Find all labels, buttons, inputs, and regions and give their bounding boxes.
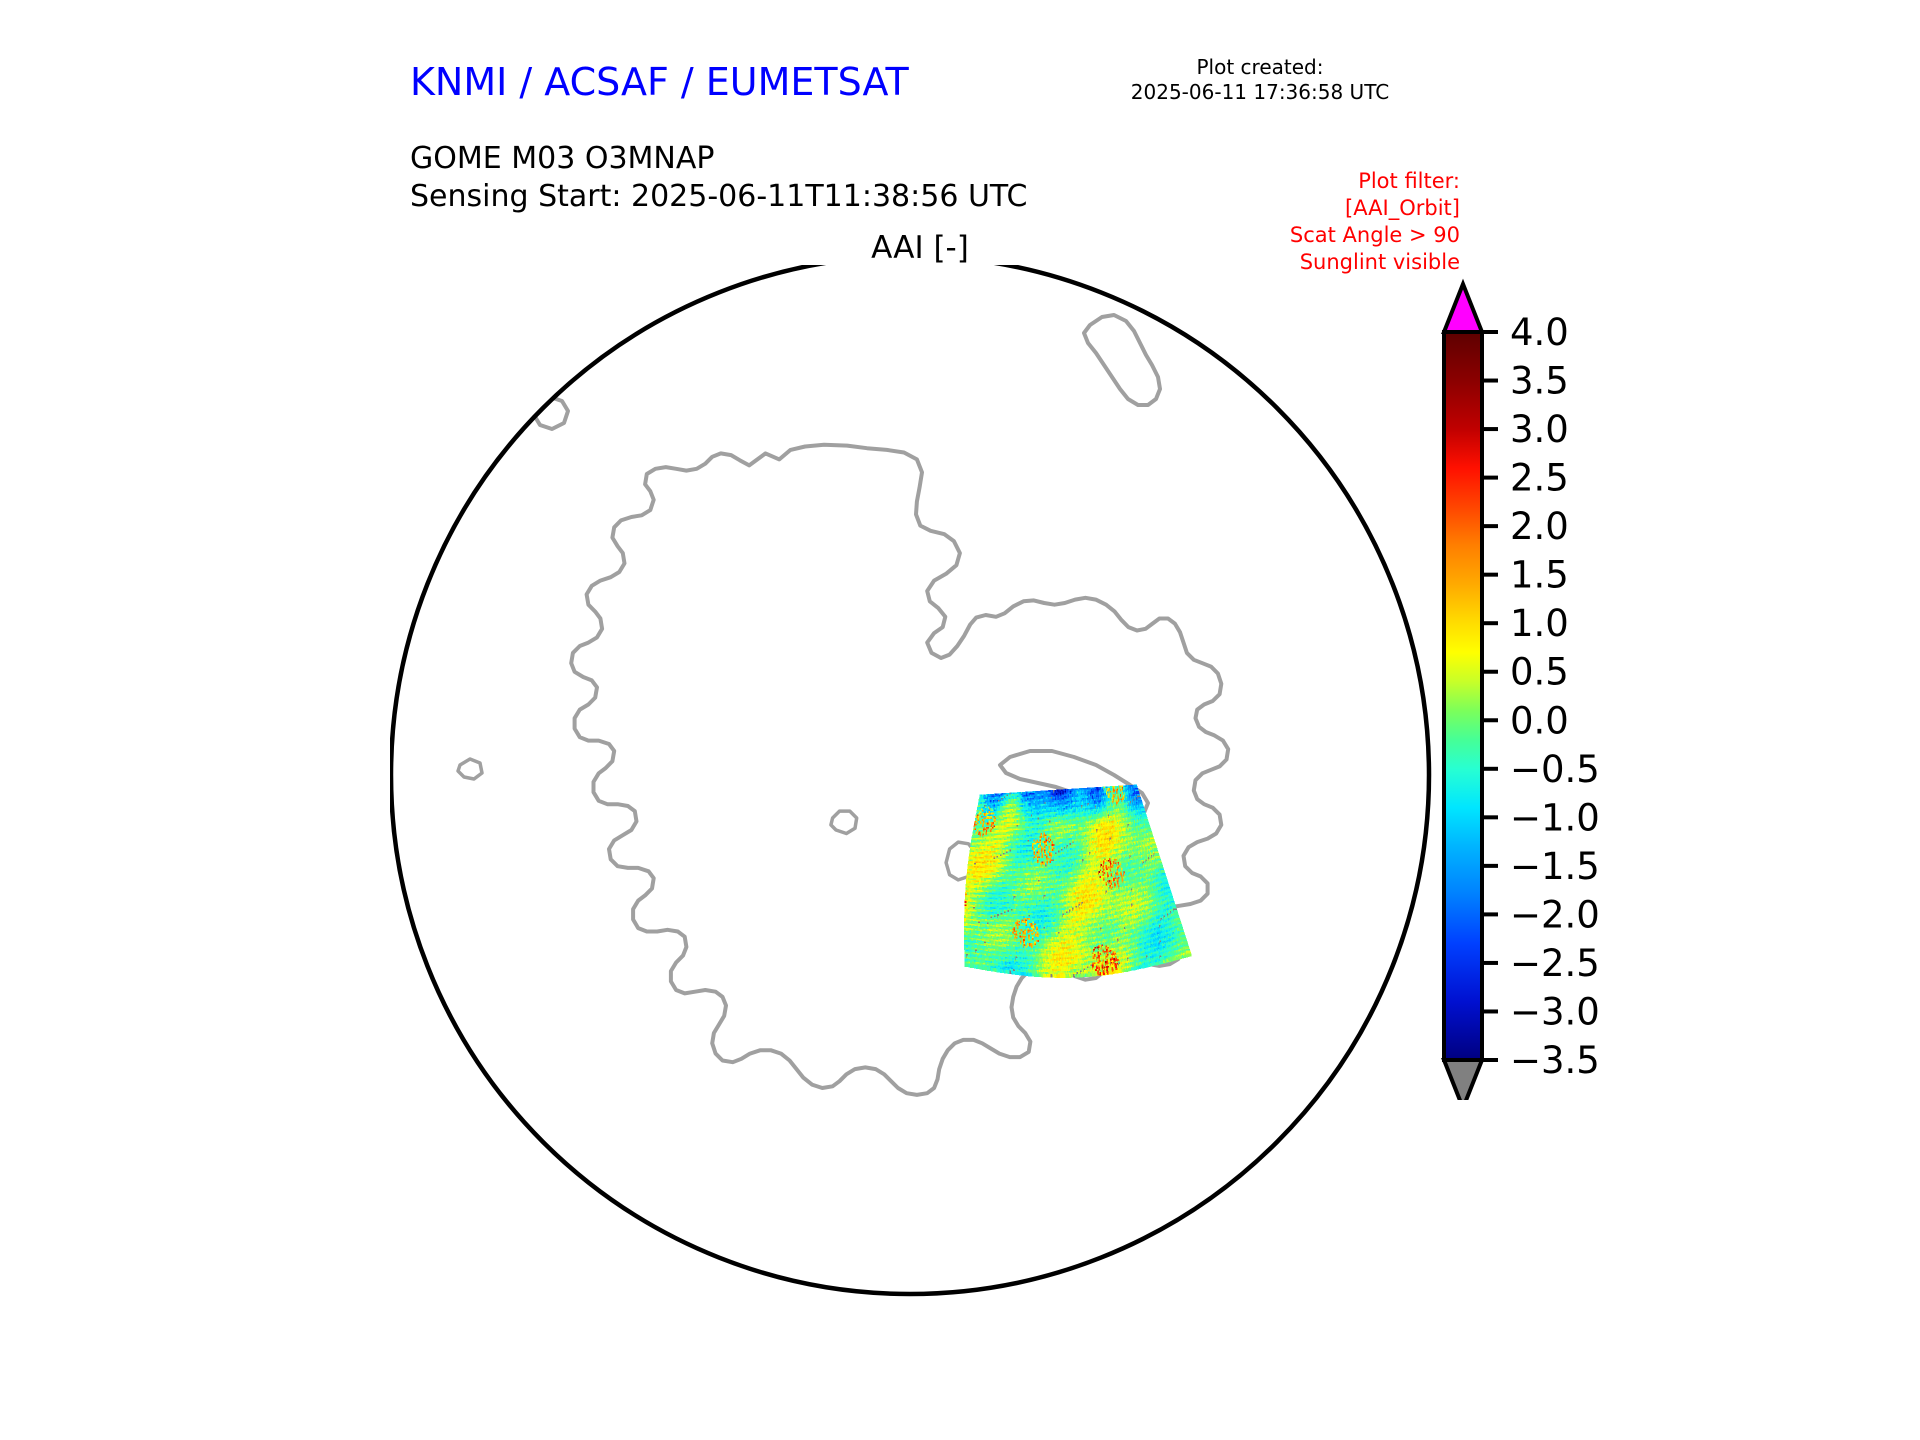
sensing-start: Sensing Start: 2025-06-11T11:38:56 UTC (410, 178, 1027, 216)
map-plot-area (390, 265, 1440, 1315)
colorbar-tick-label: −3.5 (1510, 1039, 1600, 1082)
colorbar-tick-label: 0.0 (1510, 699, 1569, 742)
filter-title: Plot filter: (1140, 168, 1460, 195)
colorbar-tick-label: 4.0 (1510, 311, 1569, 354)
coastline-path (448, 331, 486, 357)
colorbar-tick-label: −1.0 (1510, 796, 1600, 839)
colorbar-tick-label: 1.5 (1510, 554, 1569, 597)
organisation-title: KNMI / ACSAF / EUMETSAT (410, 60, 909, 104)
filter-condition: Scat Angle > 90 (1140, 222, 1460, 249)
colorbar-tick-label: 2.5 (1510, 457, 1569, 500)
colorbar-tick-label: −0.5 (1510, 748, 1600, 791)
coastline-path (1188, 265, 1214, 287)
filter-name: [AAI_Orbit] (1140, 195, 1460, 222)
polar-map (390, 265, 1440, 1315)
colorbar: 4.03.53.02.52.01.51.00.50.0−0.5−1.0−1.5−… (1430, 270, 1690, 1100)
plot-filter-block: Plot filter: [AAI_Orbit] Scat Angle > 90… (1140, 168, 1460, 276)
plot-created-label: Plot created: (1060, 55, 1460, 80)
colorbar-tick-label: 3.5 (1510, 360, 1569, 403)
colorbar-tick-label: −3.0 (1510, 990, 1600, 1033)
colorbar-gradient-bar (1444, 332, 1482, 1060)
colorbar-under-arrow (1444, 1060, 1482, 1100)
colorbar-tick-label: −1.5 (1510, 845, 1600, 888)
dataset-block: GOME M03 O3MNAP Sensing Start: 2025-06-1… (410, 140, 1027, 217)
colorbar-tick-label: 0.5 (1510, 651, 1569, 694)
colorbar-area: 4.03.53.02.52.01.51.00.50.0−0.5−1.0−1.5−… (1430, 270, 1690, 1100)
map-background (390, 265, 1440, 1315)
colorbar-tick-label: −2.5 (1510, 942, 1600, 985)
colorbar-tick-label: 3.0 (1510, 408, 1569, 451)
colorbar-over-arrow (1444, 284, 1482, 332)
colorbar-tick-label: −2.0 (1510, 893, 1600, 936)
dataset-name: GOME M03 O3MNAP (410, 140, 1027, 178)
plot-created-block: Plot created: 2025-06-11 17:36:58 UTC (1060, 55, 1460, 105)
plot-page: KNMI / ACSAF / EUMETSAT Plot created: 20… (0, 0, 1920, 1440)
colorbar-tick-label: 2.0 (1510, 505, 1569, 548)
coastline-path (1152, 271, 1196, 311)
plot-created-time: 2025-06-11 17:36:58 UTC (1060, 80, 1460, 105)
colorbar-tick-label: 1.0 (1510, 602, 1569, 645)
